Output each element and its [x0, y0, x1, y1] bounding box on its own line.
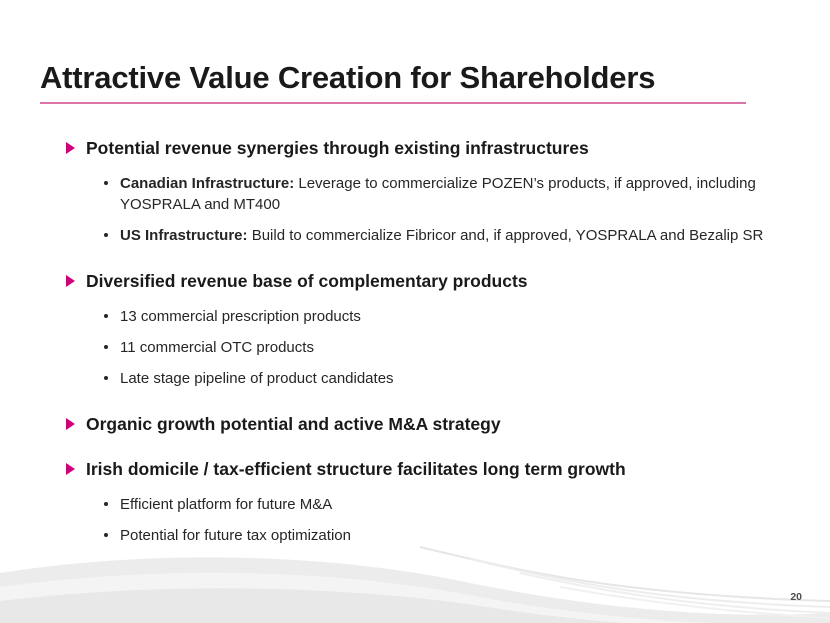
bullet-heading-label: Organic growth potential and active M&A …: [86, 414, 501, 434]
sub-bullet-text: Late stage pipeline of product candidate…: [120, 370, 394, 387]
sub-bullet-lead: Canadian Infrastructure:: [120, 175, 294, 192]
title-block: Attractive Value Creation for Shareholde…: [40, 58, 746, 104]
slide-canvas: Attractive Value Creation for Shareholde…: [0, 0, 830, 623]
sub-bullet-item: Potential for future tax optimization: [64, 525, 764, 546]
sub-bullet-list: 13 commercial prescription products 11 c…: [64, 306, 764, 389]
sub-bullet-list: Canadian Infrastructure: Leverage to com…: [64, 173, 764, 246]
title-underline-rule: [40, 102, 746, 104]
sub-bullet-text: 13 commercial prescription products: [120, 308, 361, 325]
dot-bullet-icon: [104, 314, 108, 318]
sub-bullet-text: Build to commercialize Fibricor and, if …: [248, 227, 764, 244]
triangle-bullet-icon: [66, 142, 75, 154]
bullet-group: Irish domicile / tax-efficient structure…: [64, 458, 764, 546]
sub-bullet-text: Efficient platform for future M&A: [120, 496, 332, 513]
sub-bullet-list: Efficient platform for future M&A Potent…: [64, 494, 764, 546]
bullet-group: Diversified revenue base of complementar…: [64, 270, 764, 389]
sub-bullet-item: 11 commercial OTC products: [64, 337, 764, 358]
dot-bullet-icon: [104, 533, 108, 537]
triangle-bullet-icon: [66, 275, 75, 287]
dot-bullet-icon: [104, 376, 108, 380]
bullet-heading-label: Irish domicile / tax-efficient structure…: [86, 459, 626, 479]
page-title: Attractive Value Creation for Shareholde…: [40, 58, 746, 98]
bullet-heading: Organic growth potential and active M&A …: [64, 413, 764, 435]
dot-bullet-icon: [104, 233, 108, 237]
sub-bullet-item: Canadian Infrastructure: Leverage to com…: [64, 173, 764, 215]
bullet-heading-label: Potential revenue synergies through exis…: [86, 138, 589, 158]
sub-bullet-item: Late stage pipeline of product candidate…: [64, 368, 764, 389]
sub-bullet-text: 11 commercial OTC products: [120, 339, 314, 356]
sub-bullet-text: Potential for future tax optimization: [120, 527, 351, 544]
triangle-bullet-icon: [66, 418, 75, 430]
bullet-heading: Irish domicile / tax-efficient structure…: [64, 458, 764, 480]
bullet-content: Potential revenue synergies through exis…: [64, 137, 764, 546]
bullet-heading: Diversified revenue base of complementar…: [64, 270, 764, 292]
dot-bullet-icon: [104, 181, 108, 185]
bullet-heading-label: Diversified revenue base of complementar…: [86, 271, 528, 291]
bullet-group: Potential revenue synergies through exis…: [64, 137, 764, 246]
bullet-heading: Potential revenue synergies through exis…: [64, 137, 764, 159]
sub-bullet-item: 13 commercial prescription products: [64, 306, 764, 327]
sub-bullet-item: Efficient platform for future M&A: [64, 494, 764, 515]
dot-bullet-icon: [104, 345, 108, 349]
bullet-group: Organic growth potential and active M&A …: [64, 413, 764, 435]
footer-swoosh-decoration: [0, 543, 830, 623]
page-number: 20: [790, 591, 802, 603]
triangle-bullet-icon: [66, 463, 75, 475]
sub-bullet-lead: US Infrastructure:: [120, 227, 248, 244]
sub-bullet-item: US Infrastructure: Build to commercializ…: [64, 225, 764, 246]
dot-bullet-icon: [104, 502, 108, 506]
